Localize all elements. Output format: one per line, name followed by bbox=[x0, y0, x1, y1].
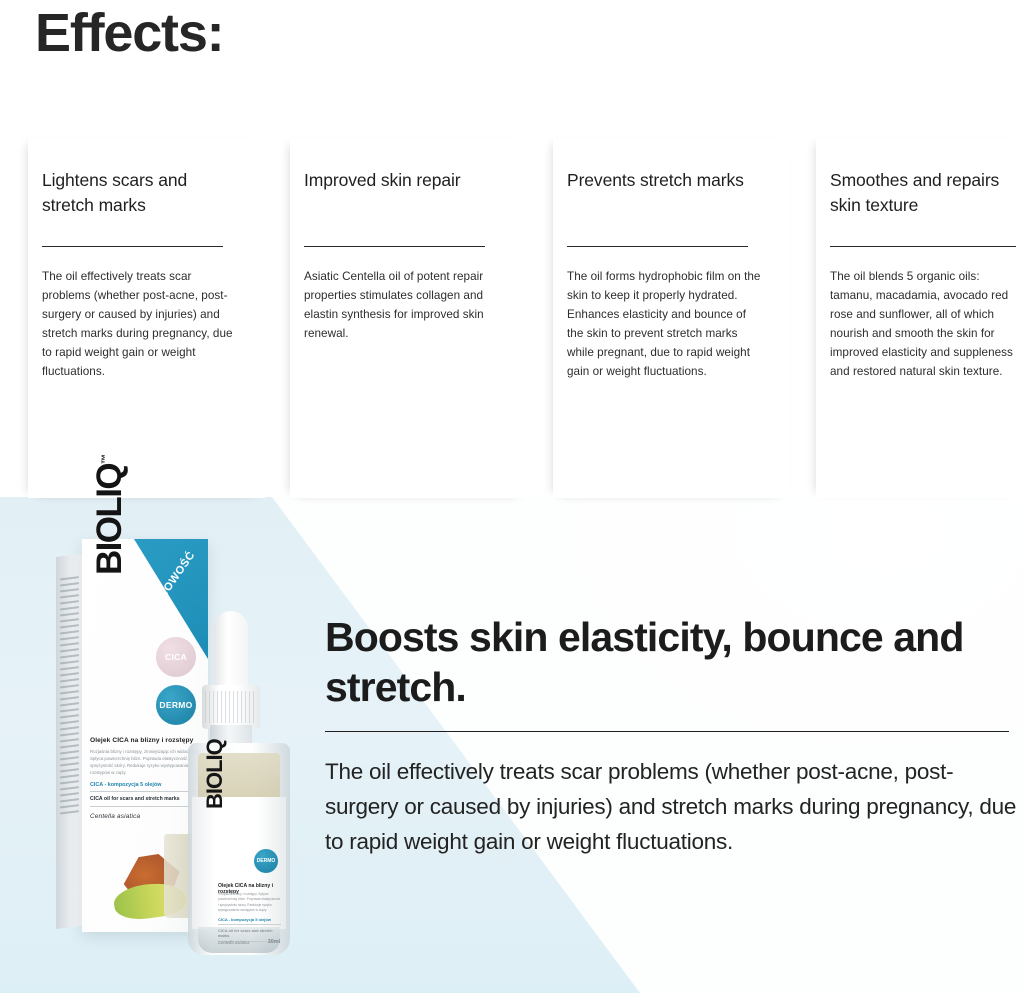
carton-trademark-symbol: ™ bbox=[100, 456, 111, 464]
bottle-label-cica-line: CICA - kompozycja 5 olejów bbox=[218, 917, 281, 925]
carton-side-panel bbox=[56, 554, 83, 929]
product-photo: NOWOŚĆ BIOLIQ™ CICA DERMO Olejek CICA na… bbox=[40, 527, 320, 957]
effect-card-divider bbox=[830, 246, 1016, 247]
carton-brand-text: BIOLIQ bbox=[90, 464, 129, 575]
hero-headline: Boosts skin elasticity, bounce and stret… bbox=[325, 612, 1015, 712]
bottle-glass-body: BIOLIQ DERMO Olejek CICA na blizny i roz… bbox=[188, 743, 290, 955]
effect-card-improved-skin-repair: Improved skin repair Asiatic Centella oi… bbox=[290, 138, 527, 498]
hero-body: The oil effectively treats scar problems… bbox=[325, 754, 1017, 859]
effect-card-divider bbox=[304, 246, 485, 247]
carton-brand-logo: BIOLIQ™ bbox=[90, 456, 130, 575]
page-title: Effects: bbox=[35, 2, 223, 64]
effects-card-row: Lightens scars and stretch marks The oil… bbox=[0, 138, 1024, 498]
bottle-cap-collar bbox=[202, 685, 260, 729]
bottle-label-description: Rozjaśnia blizny i rozstępy. Spłyca powi… bbox=[218, 892, 281, 913]
hero-text-block: Boosts skin elasticity, bounce and stret… bbox=[325, 612, 1015, 859]
effect-card-title: Improved skin repair bbox=[304, 168, 504, 220]
effect-card-title: Lightens scars and stretch marks bbox=[42, 168, 242, 220]
effect-card-lightens-scars: Lightens scars and stretch marks The oil… bbox=[28, 138, 265, 498]
effect-card-title: Smoothes and repairs skin texture bbox=[830, 168, 1024, 220]
bottle-brand-logo: BIOLIQ bbox=[202, 739, 228, 809]
bottle-dermo-badge: DERMO bbox=[254, 849, 278, 873]
effect-card-body: The oil forms hydrophobic film on the sk… bbox=[567, 268, 763, 382]
effects-page: Effects: Lightens scars and stretch mark… bbox=[0, 0, 1024, 993]
bottle-base bbox=[198, 927, 280, 953]
effect-card-body: The oil blends 5 organic oils: tamanu, m… bbox=[830, 268, 1022, 382]
bottle-label: BIOLIQ DERMO Olejek CICA na blizny i roz… bbox=[192, 797, 286, 929]
carton-new-ribbon-label: NOWOŚĆ bbox=[156, 549, 197, 600]
effect-card-body: The oil effectively treats scar problems… bbox=[42, 268, 238, 382]
carton-side-text-lines bbox=[60, 576, 79, 818]
effect-card-divider bbox=[42, 246, 223, 247]
effect-card-body: Asiatic Centella oil of potent repair pr… bbox=[304, 268, 510, 344]
hero-divider bbox=[325, 731, 1009, 732]
effect-card-smoothes-repairs-texture: Smoothes and repairs skin texture The oi… bbox=[816, 138, 1024, 498]
effect-card-title: Prevents stretch marks bbox=[567, 168, 767, 220]
bottle-dropper-bulb bbox=[214, 611, 248, 689]
effect-card-prevents-stretch-marks: Prevents stretch marks The oil forms hyd… bbox=[553, 138, 790, 498]
product-dropper-bottle: BIOLIQ DERMO Olejek CICA na blizny i roz… bbox=[180, 611, 298, 956]
effect-card-divider bbox=[567, 246, 748, 247]
